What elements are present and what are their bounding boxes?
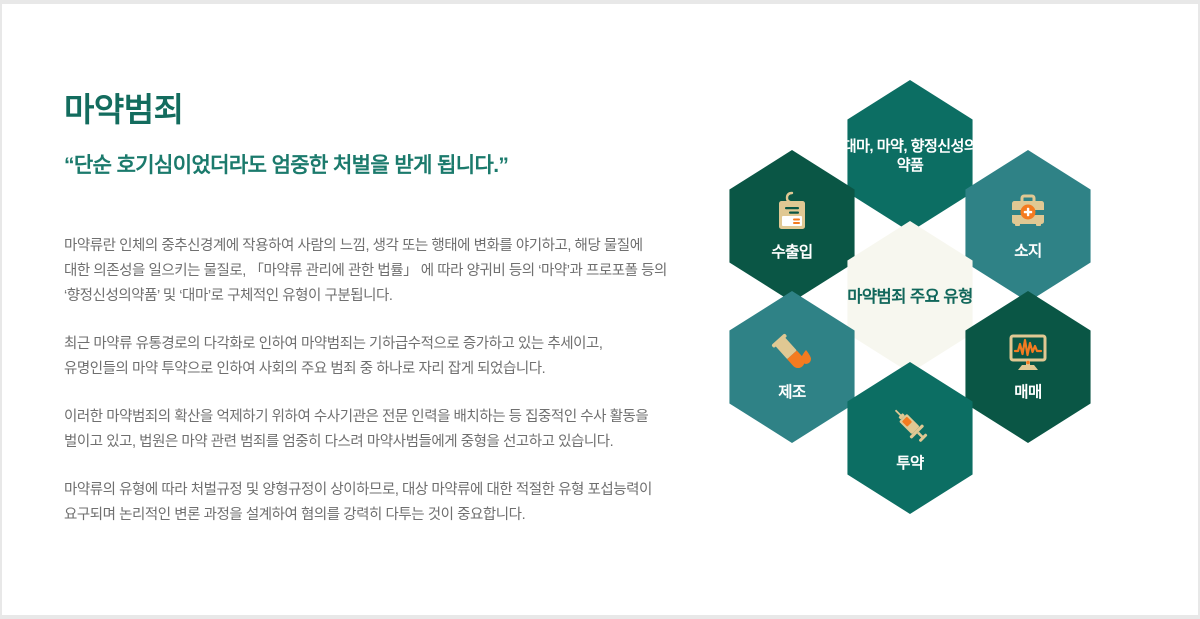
content-column: 마약범죄 “단순 호기심이었더라도 엄중한 처벌을 받게 됩니다.” 마약류란 … bbox=[64, 90, 724, 528]
hex-label-administration: 투약 bbox=[896, 454, 924, 474]
monitor-chart-icon bbox=[1005, 332, 1051, 374]
hex-node-import-export[interactable]: 수출입 bbox=[724, 150, 860, 302]
medical-briefcase-icon bbox=[1006, 191, 1050, 233]
page-subtitle: “단순 호기심이었더라도 엄중한 처벌을 받게 됩니다.” bbox=[64, 152, 724, 180]
hex-node-manufacture[interactable]: 제조 bbox=[724, 291, 860, 443]
hex-label-center: 마약범죄 주요 유형 bbox=[847, 286, 973, 309]
drug-crime-types-diagram: 대마, 마약, 향정신성의약품 수출입 bbox=[714, 66, 1114, 476]
hex-label-types: 대마, 마약, 향정신성의약품 bbox=[842, 137, 978, 176]
paragraph: 이러한 마약범죄의 확산을 억제하기 위하여 수사기관은 전문 인력을 배치하는… bbox=[64, 405, 724, 455]
paragraph: 마약류란 인체의 중추신경계에 작용하여 사람의 느낌, 생각 또는 행태에 변… bbox=[64, 234, 724, 309]
page-root: 마약범죄 “단순 호기심이었더라도 엄중한 처벌을 받게 됩니다.” 마약류란 … bbox=[0, 0, 1200, 619]
paragraph: 최근 마약류 유통경로의 다각화로 인하여 마약범죄는 기하급수적으로 증가하고… bbox=[64, 332, 724, 382]
hex-label-possession: 소지 bbox=[1014, 242, 1042, 262]
tag-label-icon bbox=[772, 190, 812, 234]
hex-node-administration[interactable]: 투약 bbox=[842, 362, 978, 514]
hex-node-center: 마약범죄 주요 유형 bbox=[842, 221, 978, 373]
syringe-icon bbox=[887, 403, 933, 445]
hex-node-possession[interactable]: 소지 bbox=[960, 150, 1096, 302]
hex-label-trade: 매매 bbox=[1014, 383, 1042, 403]
hex-node-trade[interactable]: 매매 bbox=[960, 291, 1096, 443]
paragraph: 마약류의 유형에 따라 처벌규정 및 양형규정이 상이하므로, 대상 마약류에 … bbox=[64, 478, 724, 528]
test-tube-icon bbox=[769, 332, 815, 374]
page-title: 마약범죄 bbox=[64, 90, 724, 130]
hex-node-types[interactable]: 대마, 마약, 향정신성의약품 bbox=[842, 80, 978, 232]
hex-label-manufacture: 제조 bbox=[778, 383, 806, 403]
hex-label-import-export: 수출입 bbox=[771, 243, 812, 263]
body-text-block: 마약류란 인체의 중추신경계에 작용하여 사람의 느낌, 생각 또는 행태에 변… bbox=[64, 234, 724, 528]
